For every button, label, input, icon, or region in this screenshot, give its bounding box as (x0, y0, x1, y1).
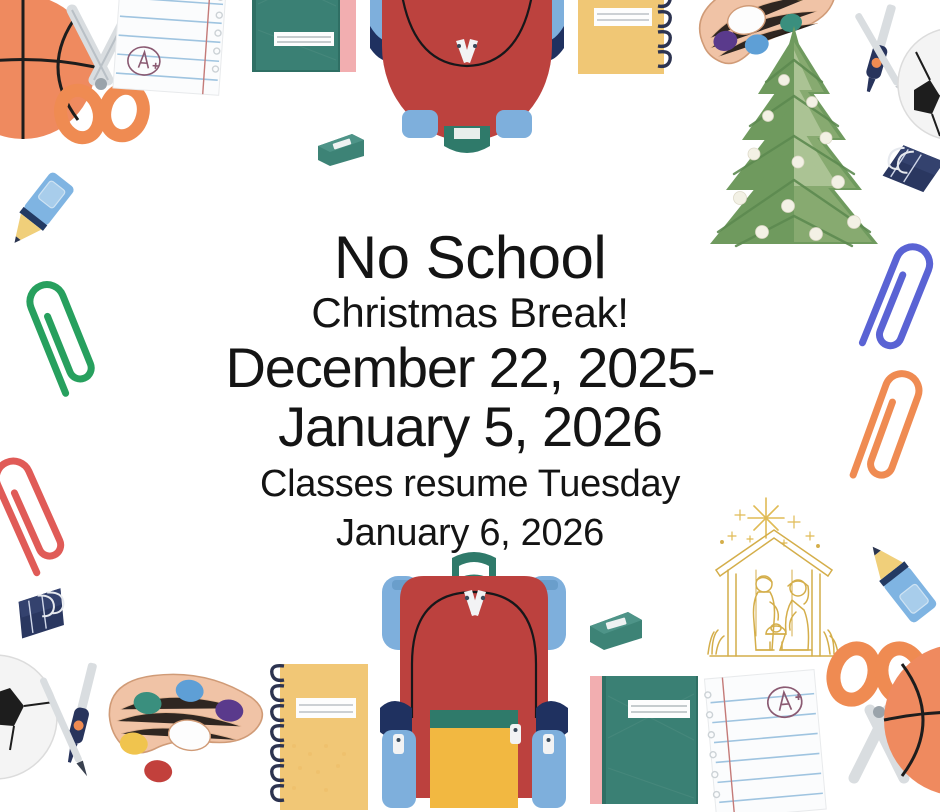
compass-divider-lower-icon (38, 656, 124, 788)
basketball-icon (0, 0, 98, 142)
binder-clip-icon (880, 140, 940, 206)
paint-palette-lower-icon (98, 666, 264, 796)
scissors-icon (42, 4, 162, 144)
teal-notebook-lower-icon (588, 672, 716, 802)
binder-clip-lower-icon (10, 582, 82, 648)
lined-paper-a-plus-lower-icon (700, 668, 832, 812)
backpack-bottom-icon (360, 548, 586, 808)
backpack-top-icon (352, 0, 582, 196)
pencil-sharpener-icon (314, 128, 368, 170)
resume-line-2: January 6, 2026 (0, 512, 940, 555)
date-range-line-1: December 22, 2025- (0, 338, 940, 397)
soccer-ball-icon (894, 24, 940, 144)
announcement-text-block: No School Christmas Break! December 22, … (0, 228, 940, 555)
resume-line-1: Classes resume Tuesday (0, 463, 940, 506)
spiral-notebook-icon (574, 0, 684, 118)
compass-divider-icon (846, 2, 916, 118)
date-range-line-2: January 5, 2026 (0, 397, 940, 456)
lined-paper-a-plus (112, 0, 234, 116)
poster-canvas: No School Christmas Break! December 22, … (0, 0, 940, 788)
teal-notebook-icon (246, 0, 370, 112)
basketball-lower-icon (880, 640, 940, 800)
soccer-ball-lower-icon (0, 652, 60, 782)
pencil-sharpener-lower-icon (586, 606, 646, 654)
scissors-lower-icon (818, 638, 938, 788)
paint-palette-icon (684, 0, 850, 90)
headline: No School (0, 228, 940, 288)
subheadline: Christmas Break! (0, 292, 940, 334)
